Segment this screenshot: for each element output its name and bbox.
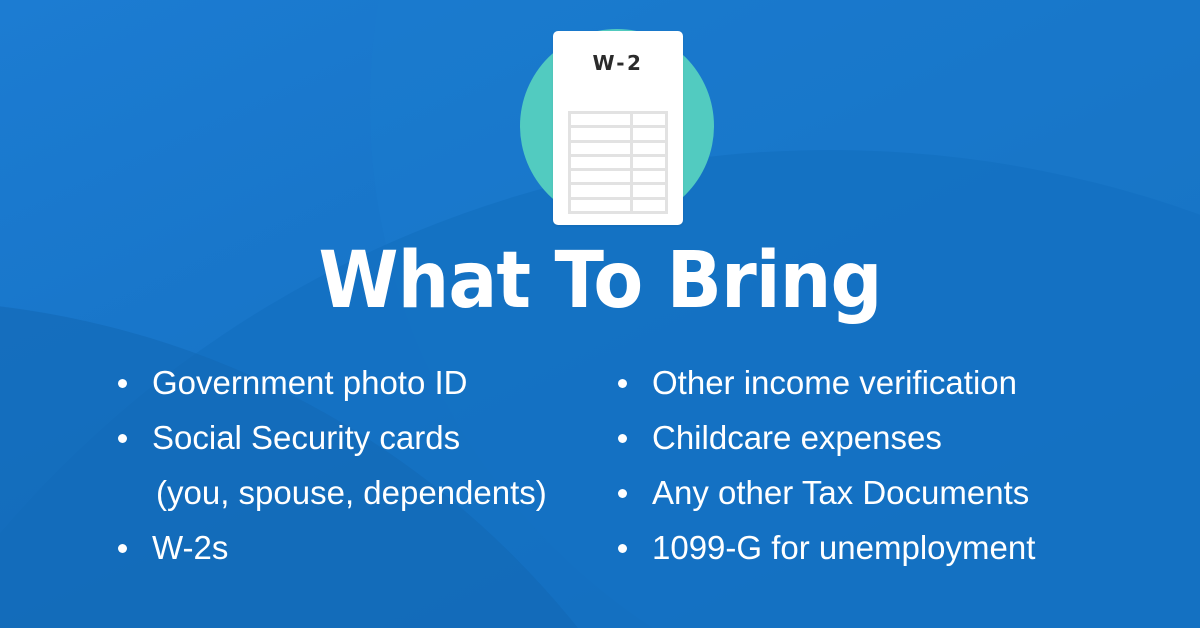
list-item: Government photo ID (118, 355, 600, 410)
w2-table-row (571, 171, 665, 185)
hero-icon-area: W-2 (0, 0, 1200, 240)
list-item: W-2s (118, 520, 600, 575)
bullet-dot-icon (618, 489, 627, 498)
w2-table-cell-narrow (633, 114, 665, 125)
w2-table-cell-wide (571, 114, 633, 125)
list-item-label: 1099-G for unemployment (652, 520, 1035, 575)
list-item-label: Childcare expenses (652, 410, 942, 465)
w2-table-cell-narrow (633, 128, 665, 139)
requirements-list-right: Other income verification Childcare expe… (600, 355, 1200, 575)
w2-document-label: W-2 (553, 51, 683, 75)
w2-table-cell-narrow (633, 143, 665, 154)
w2-table-row (571, 128, 665, 142)
w2-table-row (571, 114, 665, 128)
list-item: Other income verification (618, 355, 1200, 410)
list-item-label: (you, spouse, dependents) (152, 465, 547, 520)
list-item-label: W-2s (152, 520, 228, 575)
w2-table-cell-narrow (633, 171, 665, 182)
w2-table-cell-wide (571, 185, 633, 196)
w2-table-row (571, 157, 665, 171)
w2-table-cell-narrow (633, 200, 665, 211)
w2-table-grid (568, 111, 668, 214)
what-to-bring-poster: W-2 What To Bring Government photo ID So… (0, 0, 1200, 628)
w2-table-row (571, 185, 665, 199)
list-item: Childcare expenses (618, 410, 1200, 465)
list-item-label: Government photo ID (152, 355, 468, 410)
w2-table-cell-wide (571, 171, 633, 182)
requirements-list-left: Government photo ID Social Security card… (0, 355, 600, 575)
w2-table-cell-narrow (633, 185, 665, 196)
bullet-dot-icon (618, 544, 627, 553)
list-item: Social Security cards (118, 410, 600, 465)
requirements-lists: Government photo ID Social Security card… (0, 355, 1200, 575)
list-item-continuation: (you, spouse, dependents) (118, 465, 600, 520)
page-title: What To Bring (42, 238, 1158, 324)
w2-table-cell-narrow (633, 157, 665, 168)
list-item-label: Any other Tax Documents (652, 465, 1029, 520)
w2-table-cell-wide (571, 143, 633, 154)
list-item-label: Social Security cards (152, 410, 460, 465)
w2-document-icon: W-2 (553, 31, 683, 225)
bullet-dot-icon (118, 379, 127, 388)
bullet-dot-icon (618, 434, 627, 443)
w2-table-cell-wide (571, 157, 633, 168)
w2-table-row (571, 200, 665, 211)
list-item: Any other Tax Documents (618, 465, 1200, 520)
bullet-dot-icon (118, 544, 127, 553)
w2-table-cell-wide (571, 200, 633, 211)
list-item: 1099-G for unemployment (618, 520, 1200, 575)
w2-table-row (571, 143, 665, 157)
w2-table-cell-wide (571, 128, 633, 139)
bullet-dot-icon (118, 434, 127, 443)
bullet-dot-icon (618, 379, 627, 388)
list-item-label: Other income verification (652, 355, 1017, 410)
